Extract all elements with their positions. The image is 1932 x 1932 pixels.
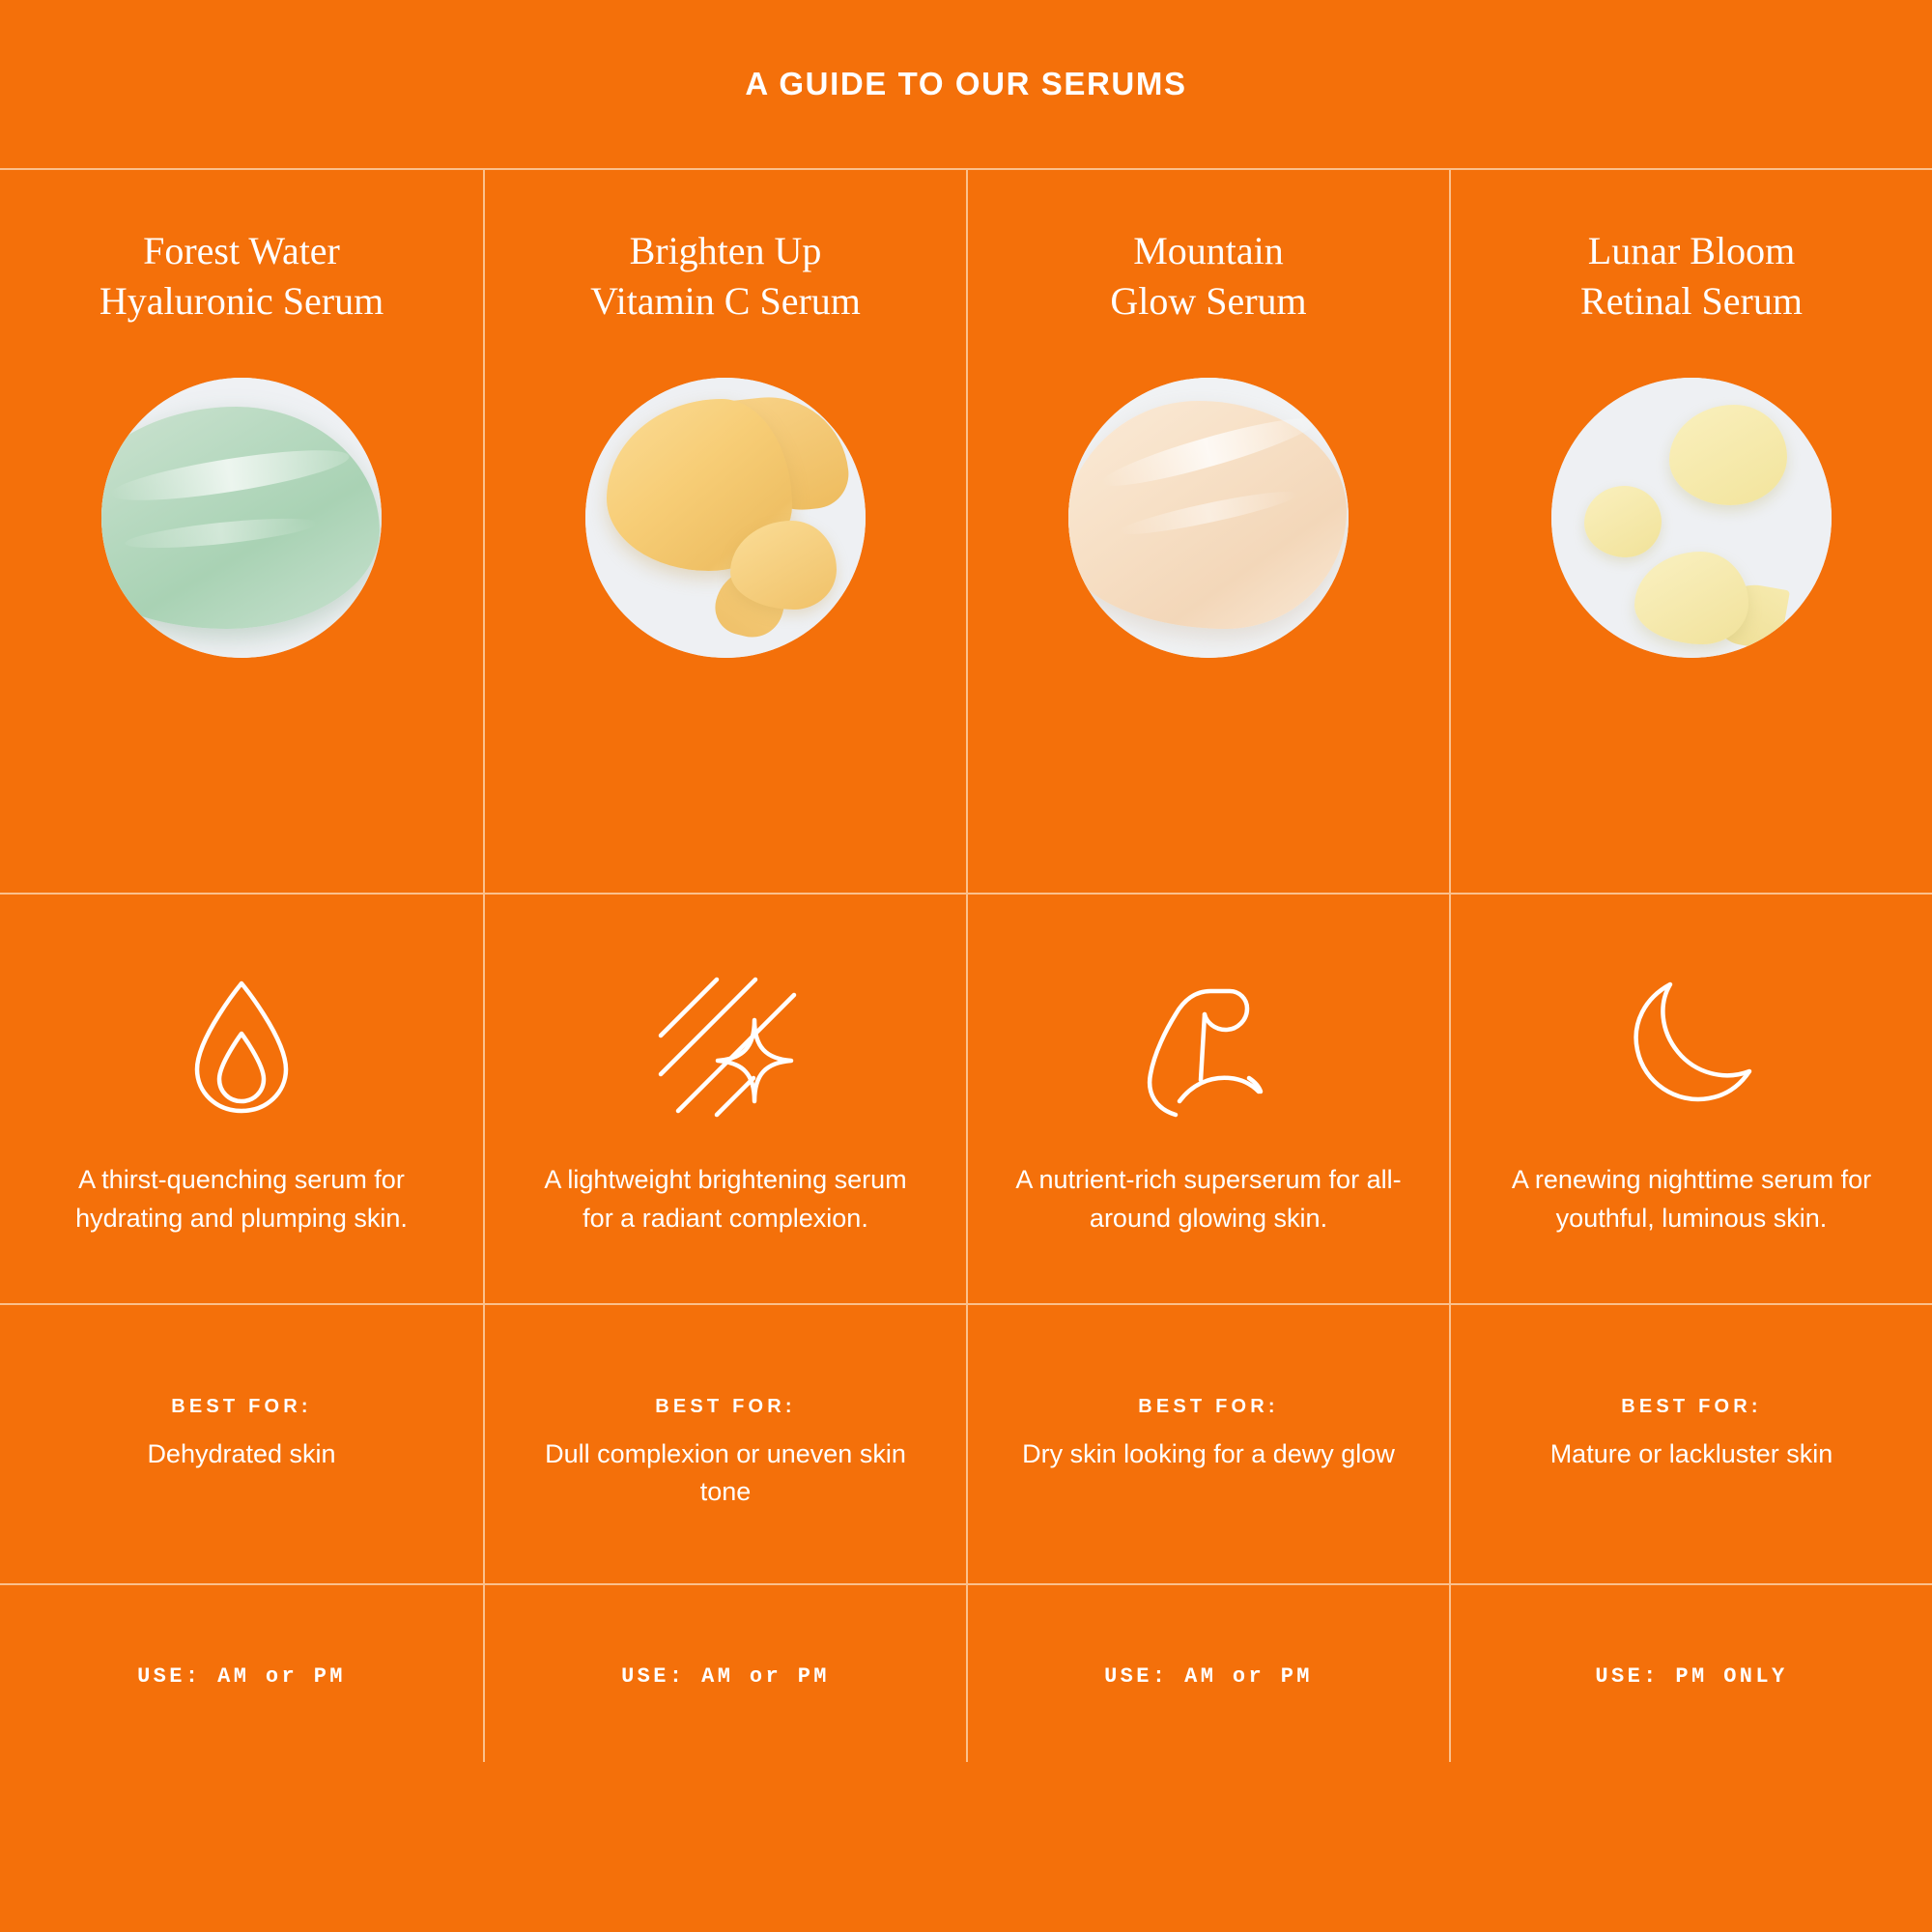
best-for-cell-forest-water: BEST FOR: Dehydrated skin <box>0 1305 483 1583</box>
product-name-line2: Glow Serum <box>1110 276 1306 327</box>
flexed-bicep-icon <box>1141 954 1276 1138</box>
product-name-lunar-bloom: Lunar Bloom Retinal Serum <box>1580 170 1803 327</box>
swatch-forest-water <box>101 378 382 658</box>
description-text: A renewing nighttime serum for youthful,… <box>1451 1161 1932 1237</box>
description-cell-lunar-bloom: A renewing nighttime serum for youthful,… <box>1449 895 1932 1303</box>
product-row: Forest Water Hyaluronic Serum Brighten U… <box>0 170 1932 893</box>
product-name-line1: Mountain <box>1110 226 1306 276</box>
best-for-cell-brighten-up: BEST FOR: Dull complexion or uneven skin… <box>483 1305 966 1583</box>
swatch-droplet-left <box>1584 486 1662 557</box>
page-title: A GUIDE TO OUR SERUMS <box>745 66 1186 102</box>
product-cell-brighten-up: Brighten Up Vitamin C Serum <box>483 170 966 893</box>
sparkle-lines-icon <box>653 954 798 1138</box>
product-name-line1: Lunar Bloom <box>1580 226 1803 276</box>
best-for-value: Dull complexion or uneven skin tone <box>485 1435 966 1511</box>
best-for-label: BEST FOR: <box>1138 1396 1279 1418</box>
swatch-wrap <box>485 378 966 658</box>
use-cell-brighten-up: USE: AM or PM <box>483 1585 966 1762</box>
description-row: A thirst-quenching serum for hydrating a… <box>0 893 1932 1303</box>
crescent-moon-icon <box>1624 954 1759 1138</box>
best-for-label: BEST FOR: <box>171 1396 312 1418</box>
use-cell-forest-water: USE: AM or PM <box>0 1585 483 1762</box>
description-cell-forest-water: A thirst-quenching serum for hydrating a… <box>0 895 483 1303</box>
product-name-mountain-glow: Mountain Glow Serum <box>1110 170 1306 327</box>
best-for-value: Mature or lackluster skin <box>1518 1435 1866 1473</box>
use-text: USE: AM or PM <box>137 1664 346 1689</box>
use-cell-mountain-glow: USE: AM or PM <box>966 1585 1449 1762</box>
swatch-mountain-glow <box>1068 378 1349 658</box>
use-text: USE: PM ONLY <box>1595 1664 1787 1689</box>
product-name-brighten-up: Brighten Up Vitamin C Serum <box>590 170 861 327</box>
swatch-brighten-up <box>585 378 866 658</box>
use-text: USE: AM or PM <box>621 1664 830 1689</box>
product-name-line2: Vitamin C Serum <box>590 276 861 327</box>
product-cell-lunar-bloom: Lunar Bloom Retinal Serum <box>1449 170 1932 893</box>
swatch-lunar-bloom <box>1551 378 1832 658</box>
product-name-line1: Forest Water <box>99 226 384 276</box>
best-for-label: BEST FOR: <box>1621 1396 1762 1418</box>
product-name-line2: Hyaluronic Serum <box>99 276 384 327</box>
best-for-cell-lunar-bloom: BEST FOR: Mature or lackluster skin <box>1449 1305 1932 1583</box>
best-for-value: Dry skin looking for a dewy glow <box>989 1435 1428 1473</box>
description-cell-brighten-up: A lightweight brightening serum for a ra… <box>483 895 966 1303</box>
product-cell-forest-water: Forest Water Hyaluronic Serum <box>0 170 483 893</box>
use-row: USE: AM or PM USE: AM or PM USE: AM or P… <box>0 1583 1932 1762</box>
description-text: A nutrient-rich superserum for all-aroun… <box>968 1161 1449 1237</box>
water-drop-icon <box>184 954 299 1138</box>
description-text: A lightweight brightening serum for a ra… <box>485 1161 966 1237</box>
serum-guide-infographic: A GUIDE TO OUR SERUMS Forest Water Hyalu… <box>0 0 1932 1932</box>
product-name-line1: Brighten Up <box>590 226 861 276</box>
description-cell-mountain-glow: A nutrient-rich superserum for all-aroun… <box>966 895 1449 1303</box>
product-name-forest-water: Forest Water Hyaluronic Serum <box>99 170 384 327</box>
swatch-wrap <box>0 378 483 658</box>
best-for-cell-mountain-glow: BEST FOR: Dry skin looking for a dewy gl… <box>966 1305 1449 1583</box>
swatch-wrap <box>968 378 1449 658</box>
use-text: USE: AM or PM <box>1104 1664 1313 1689</box>
comparison-grid: Forest Water Hyaluronic Serum Brighten U… <box>0 168 1932 1762</box>
product-cell-mountain-glow: Mountain Glow Serum <box>966 170 1449 893</box>
best-for-row: BEST FOR: Dehydrated skin BEST FOR: Dull… <box>0 1303 1932 1583</box>
description-text: A thirst-quenching serum for hydrating a… <box>0 1161 483 1237</box>
best-for-label: BEST FOR: <box>655 1396 796 1418</box>
product-name-line2: Retinal Serum <box>1580 276 1803 327</box>
use-cell-lunar-bloom: USE: PM ONLY <box>1449 1585 1932 1762</box>
best-for-value: Dehydrated skin <box>114 1435 368 1473</box>
header: A GUIDE TO OUR SERUMS <box>0 0 1932 168</box>
swatch-wrap <box>1451 378 1932 658</box>
